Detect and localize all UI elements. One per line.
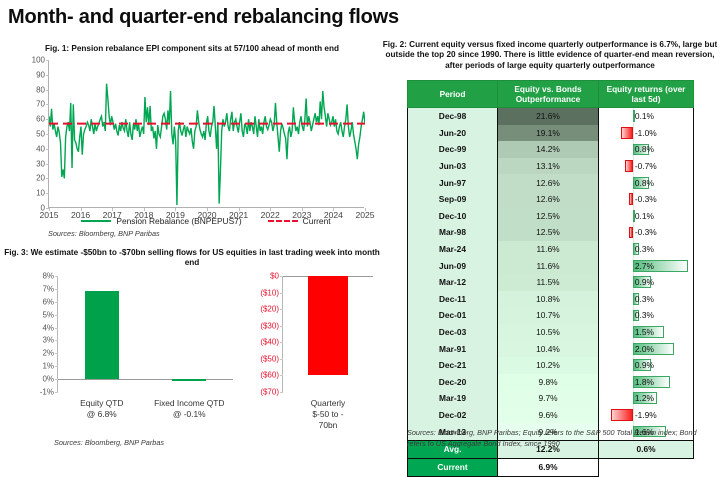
cell-outperformance: 11.5% bbox=[498, 274, 599, 291]
table-summary-row: Current6.9% bbox=[408, 458, 694, 476]
cell-outperformance: 10.8% bbox=[498, 291, 599, 308]
return-bar-wrap: 0.3% bbox=[599, 291, 693, 308]
y-axis-tick-label: 60 bbox=[36, 115, 45, 124]
zero-line bbox=[633, 191, 634, 208]
return-value-label: 2.7% bbox=[635, 261, 654, 271]
legend-label: Pension Rebalance (BNPEPUS7) bbox=[116, 216, 241, 226]
y-axis-tick-label: ($10) bbox=[260, 288, 279, 297]
y-axis-tick-label: ($50) bbox=[260, 354, 279, 363]
negative-return-bar bbox=[625, 160, 633, 172]
cell-period: Jun-09 bbox=[408, 257, 498, 274]
cell-period: Jun-97 bbox=[408, 174, 498, 191]
return-value-label: -1.9% bbox=[635, 410, 657, 420]
pension-rebalance-line bbox=[49, 84, 365, 205]
cell-period: Dec-21 bbox=[408, 357, 498, 374]
category-label: Fixed Income QTD@ -0.1% bbox=[154, 398, 224, 420]
return-bar-wrap: 0.3% bbox=[599, 307, 693, 324]
x-axis-tick bbox=[175, 208, 176, 211]
cell-equity-return: 2.0% bbox=[599, 340, 694, 357]
return-value-label: 1.8% bbox=[635, 377, 654, 387]
figure-3-title: Fig. 3: We estimate -$50bn to -$70bn sel… bbox=[4, 248, 380, 269]
y-axis-tick bbox=[55, 315, 58, 316]
cell-outperformance: 10.7% bbox=[498, 307, 599, 324]
return-bar-wrap: 2.7% bbox=[599, 257, 693, 274]
y-axis-tick-label: 30 bbox=[36, 159, 45, 168]
return-value-label: -0.3% bbox=[635, 194, 657, 204]
y-axis-tick bbox=[280, 326, 283, 327]
table-row: Mar-9812.5%-0.3% bbox=[408, 224, 694, 241]
y-axis-tick-label: 1% bbox=[42, 362, 54, 371]
zero-line bbox=[58, 379, 233, 380]
x-axis-tick bbox=[81, 208, 82, 211]
cell-equity-return: 0.9% bbox=[599, 274, 694, 291]
table-row: Dec-1012.5%0.1% bbox=[408, 208, 694, 225]
return-value-label: 0.9% bbox=[635, 277, 654, 287]
return-value-label: 0.1% bbox=[635, 211, 654, 221]
cell-period: Dec-10 bbox=[408, 208, 498, 225]
y-axis-tick bbox=[280, 309, 283, 310]
y-axis-tick-label: 6% bbox=[42, 297, 54, 306]
cell-outperformance: 13.1% bbox=[498, 158, 599, 175]
figure-3-panel: Fig. 3: We estimate -$50bn to -$70bn sel… bbox=[4, 248, 380, 454]
y-axis-tick-label: 2% bbox=[42, 349, 54, 358]
y-axis-tick-label: 40 bbox=[36, 144, 45, 153]
cell-equity-return: 0.3% bbox=[599, 241, 694, 258]
cell-period: Dec-03 bbox=[408, 324, 498, 341]
y-axis-tick-label: $0 bbox=[270, 272, 279, 281]
y-axis-tick bbox=[55, 276, 58, 277]
cell-period: Dec-98 bbox=[408, 108, 498, 125]
cell-equity-return: 2.7% bbox=[599, 257, 694, 274]
cell-equity-return: 0.3% bbox=[599, 291, 694, 308]
cell-period: Dec-02 bbox=[408, 407, 498, 424]
y-axis-tick bbox=[280, 342, 283, 343]
y-axis-tick bbox=[280, 392, 283, 393]
legend-label: Current bbox=[303, 216, 331, 226]
cell-equity-return: -1.9% bbox=[599, 407, 694, 424]
zero-line bbox=[633, 158, 634, 175]
cell-outperformance: 9.7% bbox=[498, 390, 599, 407]
y-axis-tick-label: 80 bbox=[36, 85, 45, 94]
cell-outperformance: 10.2% bbox=[498, 357, 599, 374]
return-value-label: -0.3% bbox=[635, 227, 657, 237]
x-axis-tick bbox=[302, 208, 303, 211]
table-row: Dec-029.6%-1.9% bbox=[408, 407, 694, 424]
y-axis-tick bbox=[55, 289, 58, 290]
cell-outperformance: 12.5% bbox=[498, 224, 599, 241]
cell-outperformance: 12.5% bbox=[498, 208, 599, 225]
y-axis-tick bbox=[55, 353, 58, 354]
y-axis-tick-label: 100 bbox=[32, 56, 45, 65]
column-header-outperformance: Equity vs. Bonds Outperformance bbox=[498, 81, 599, 108]
cell-period: Mar-98 bbox=[408, 224, 498, 241]
zero-line bbox=[633, 407, 634, 424]
return-value-label: 0.3% bbox=[635, 244, 654, 254]
y-axis-tick-label: ($40) bbox=[260, 338, 279, 347]
return-bar-wrap: -1.0% bbox=[599, 125, 693, 142]
y-axis-tick bbox=[55, 328, 58, 329]
y-axis-tick-label: 8% bbox=[42, 272, 54, 281]
return-value-label: 0.8% bbox=[635, 144, 654, 154]
y-axis-tick bbox=[55, 340, 58, 341]
cell-outperformance: 10.5% bbox=[498, 324, 599, 341]
right-chart-axis: $0($10)($20)($30)($40)($50)($60)($70)Qua… bbox=[282, 276, 372, 392]
negative-return-bar bbox=[629, 193, 632, 205]
bar bbox=[308, 276, 348, 375]
return-value-label: 1.6% bbox=[635, 427, 654, 437]
cell-equity-return: -0.3% bbox=[599, 224, 694, 241]
column-header-period: Period bbox=[408, 81, 498, 108]
return-bar-wrap: 0.8% bbox=[599, 141, 693, 158]
cell-outperformance: 11.6% bbox=[498, 257, 599, 274]
table-row: Dec-0310.5%1.5% bbox=[408, 324, 694, 341]
y-axis-tick-label: 4% bbox=[42, 323, 54, 332]
return-value-label: 1.2% bbox=[635, 393, 654, 403]
cell-outperformance: 9.8% bbox=[498, 374, 599, 391]
cell-period: Dec-20 bbox=[408, 374, 498, 391]
x-axis-tick bbox=[270, 208, 271, 211]
cell-outperformance: 10.4% bbox=[498, 340, 599, 357]
return-bar-wrap: 0.9% bbox=[599, 274, 693, 291]
figure-1-source: Sources: Bloomberg, BNP Paribas bbox=[48, 229, 160, 238]
summary-equity-return bbox=[599, 458, 694, 476]
table-row: Dec-9821.6%0.1% bbox=[408, 108, 694, 125]
zero-line bbox=[633, 224, 634, 241]
return-bar-wrap: -0.7% bbox=[599, 158, 693, 175]
table-row: Mar-1211.5%0.9% bbox=[408, 274, 694, 291]
cell-equity-return: -0.3% bbox=[599, 191, 694, 208]
cell-equity-return: 0.8% bbox=[599, 141, 694, 158]
cell-equity-return: 1.5% bbox=[599, 324, 694, 341]
left-chart-axis: -1%0%1%2%3%4%5%6%7%8%Equity QTD@ 6.8%Fix… bbox=[57, 276, 232, 392]
y-axis-tick-label: -1% bbox=[40, 388, 54, 397]
outperformance-table: Period Equity vs. Bonds Outperformance E… bbox=[407, 80, 694, 477]
y-axis-tick-label: 7% bbox=[42, 284, 54, 293]
figure-1-series-svg bbox=[49, 60, 365, 208]
table-row: Jun-0911.6%2.7% bbox=[408, 257, 694, 274]
table-row: Jun-2019.1%-1.0% bbox=[408, 125, 694, 142]
cell-equity-return: 0.1% bbox=[599, 208, 694, 225]
return-bar-wrap: 1.5% bbox=[599, 324, 693, 341]
cell-period: Jun-03 bbox=[408, 158, 498, 175]
table-row: Sep-0912.6%-0.3% bbox=[408, 191, 694, 208]
y-axis-tick-label: 90 bbox=[36, 70, 45, 79]
cell-period: Mar-24 bbox=[408, 241, 498, 258]
summary-outperformance: 6.9% bbox=[498, 458, 599, 476]
figure-1-plot: 0102030405060708090100201520162017201820… bbox=[48, 60, 364, 208]
y-axis-tick-label: 50 bbox=[36, 130, 45, 139]
return-value-label: 0.9% bbox=[635, 360, 654, 370]
y-axis-tick bbox=[55, 392, 58, 393]
report-page: Month- and quarter-end rebalancing flows… bbox=[0, 0, 720, 458]
cell-outperformance: 12.6% bbox=[498, 191, 599, 208]
cell-outperformance: 12.6% bbox=[498, 174, 599, 191]
cell-equity-return: -0.7% bbox=[599, 158, 694, 175]
x-axis-tick bbox=[333, 208, 334, 211]
cell-equity-return: 0.9% bbox=[599, 357, 694, 374]
return-value-label: 0.8% bbox=[635, 178, 654, 188]
cell-period: Sep-09 bbox=[408, 191, 498, 208]
cell-period: Mar-12 bbox=[408, 274, 498, 291]
negative-return-bar bbox=[611, 409, 633, 421]
y-axis-tick-label: 5% bbox=[42, 310, 54, 319]
return-value-label: -1.0% bbox=[635, 128, 657, 138]
y-axis-tick bbox=[280, 375, 283, 376]
return-bar-wrap: 2.0% bbox=[599, 340, 693, 357]
figure-3-left-chart: -1%0%1%2%3%4%5%6%7%8%Equity QTD@ 6.8%Fix… bbox=[32, 276, 232, 406]
return-bar-wrap: 0.1% bbox=[599, 108, 693, 125]
negative-return-bar bbox=[621, 127, 633, 139]
cell-period: Jun-20 bbox=[408, 125, 498, 142]
bar bbox=[85, 291, 119, 379]
dashed-line-swatch-icon bbox=[268, 220, 298, 222]
cell-outperformance: 21.6% bbox=[498, 108, 599, 125]
return-bar-wrap: 1.8% bbox=[599, 374, 693, 391]
category-label: Quarterly $-50 to -70bn bbox=[306, 398, 350, 431]
table-row: Jun-0313.1%-0.7% bbox=[408, 158, 694, 175]
table-row: Mar-9110.4%2.0% bbox=[408, 340, 694, 357]
table-row: Mar-199.7%1.2% bbox=[408, 390, 694, 407]
cell-outperformance: 19.1% bbox=[498, 125, 599, 142]
bar bbox=[172, 379, 206, 381]
x-axis-tick bbox=[207, 208, 208, 211]
y-axis-tick-label: ($30) bbox=[260, 321, 279, 330]
figure-2-panel: Fig. 2: Current equity versus fixed inco… bbox=[382, 40, 718, 454]
negative-return-bar bbox=[629, 227, 632, 239]
table-row: Dec-2110.2%0.9% bbox=[408, 357, 694, 374]
y-axis-tick-label: 10 bbox=[36, 189, 45, 198]
return-bar-wrap: -0.3% bbox=[599, 191, 693, 208]
y-axis-tick-label: 0% bbox=[42, 375, 54, 384]
x-axis-tick bbox=[144, 208, 145, 211]
cell-outperformance: 14.2% bbox=[498, 141, 599, 158]
figure-3-source: Sources: Bloomberg, BNP Parbas bbox=[54, 438, 164, 447]
category-label: Equity QTD@ 6.8% bbox=[80, 398, 123, 420]
y-axis-tick-label: ($60) bbox=[260, 371, 279, 380]
cell-period: Dec-11 bbox=[408, 291, 498, 308]
cell-outperformance: 11.6% bbox=[498, 241, 599, 258]
return-value-label: 0.1% bbox=[635, 111, 654, 121]
cell-equity-return: 0.8% bbox=[599, 174, 694, 191]
figure-2-title: Fig. 2: Current equity versus fixed inco… bbox=[382, 40, 718, 71]
return-value-label: 1.5% bbox=[635, 327, 654, 337]
figure-1-title: Fig. 1: Pension rebalance EPI component … bbox=[4, 44, 380, 54]
table-header-row: Period Equity vs. Bonds Outperformance E… bbox=[408, 81, 694, 108]
return-value-label: 0.3% bbox=[635, 294, 654, 304]
return-value-label: -0.7% bbox=[635, 161, 657, 171]
y-axis-tick-label: 70 bbox=[36, 100, 45, 109]
return-bar-wrap: 0.1% bbox=[599, 208, 693, 225]
legend-item-current: Current bbox=[268, 216, 331, 226]
y-axis-tick bbox=[280, 293, 283, 294]
return-bar-wrap: -1.9% bbox=[599, 407, 693, 424]
return-bar-wrap: -0.3% bbox=[599, 224, 693, 241]
y-axis-tick-label: ($20) bbox=[260, 305, 279, 314]
cell-equity-return: 0.3% bbox=[599, 307, 694, 324]
y-axis-tick-label: 20 bbox=[36, 174, 45, 183]
summary-label: Current bbox=[408, 458, 498, 476]
table-row: Dec-209.8%1.8% bbox=[408, 374, 694, 391]
figure-1-legend: Pension Rebalance (BNPEPUS7) Current bbox=[48, 216, 364, 226]
cell-period: Dec-99 bbox=[408, 141, 498, 158]
return-bar-wrap: 1.2% bbox=[599, 390, 693, 407]
table-row: Mar-2411.6%0.3% bbox=[408, 241, 694, 258]
return-bar-wrap: 0.8% bbox=[599, 174, 693, 191]
figure-3-right-chart: $0($10)($20)($30)($40)($50)($60)($70)Qua… bbox=[238, 276, 378, 406]
table-row: Jun-9712.6%0.8% bbox=[408, 174, 694, 191]
return-value-label: 2.0% bbox=[635, 344, 654, 354]
x-axis-tick bbox=[365, 208, 366, 211]
y-axis-tick bbox=[55, 366, 58, 367]
cell-equity-return: 1.8% bbox=[599, 374, 694, 391]
line-swatch-icon bbox=[81, 220, 111, 223]
cell-period: Mar-91 bbox=[408, 340, 498, 357]
cell-period: Dec-01 bbox=[408, 307, 498, 324]
cell-equity-return: 0.1% bbox=[599, 108, 694, 125]
cell-outperformance: 9.6% bbox=[498, 407, 599, 424]
figure-1-panel: Fig. 1: Pension rebalance EPI component … bbox=[4, 44, 380, 240]
x-axis-tick bbox=[49, 208, 50, 211]
table-row: Dec-9914.2%0.8% bbox=[408, 141, 694, 158]
cell-equity-return: 1.2% bbox=[599, 390, 694, 407]
column-header-equity-returns: Equity returns (over last 5d) bbox=[599, 81, 694, 108]
legend-item-pension-rebalance: Pension Rebalance (BNPEPUS7) bbox=[81, 216, 241, 226]
x-axis-tick bbox=[112, 208, 113, 211]
zero-line bbox=[633, 125, 634, 142]
figure-2-source: Sources: Bloomberg, BNP Paribas; Equity … bbox=[407, 428, 707, 449]
return-bar-wrap: 0.3% bbox=[599, 241, 693, 258]
y-axis-tick bbox=[280, 359, 283, 360]
y-axis-tick bbox=[55, 302, 58, 303]
x-axis-tick bbox=[239, 208, 240, 211]
return-value-label: 0.3% bbox=[635, 310, 654, 320]
cell-period: Mar-19 bbox=[408, 390, 498, 407]
y-axis-tick-label: ($70) bbox=[260, 388, 279, 397]
return-bar-wrap: 0.9% bbox=[599, 357, 693, 374]
y-axis-tick-label: 3% bbox=[42, 336, 54, 345]
page-title: Month- and quarter-end rebalancing flows bbox=[8, 6, 399, 29]
table-row: Dec-1110.8%0.3% bbox=[408, 291, 694, 308]
cell-equity-return: -1.0% bbox=[599, 125, 694, 142]
table-row: Dec-0110.7%0.3% bbox=[408, 307, 694, 324]
